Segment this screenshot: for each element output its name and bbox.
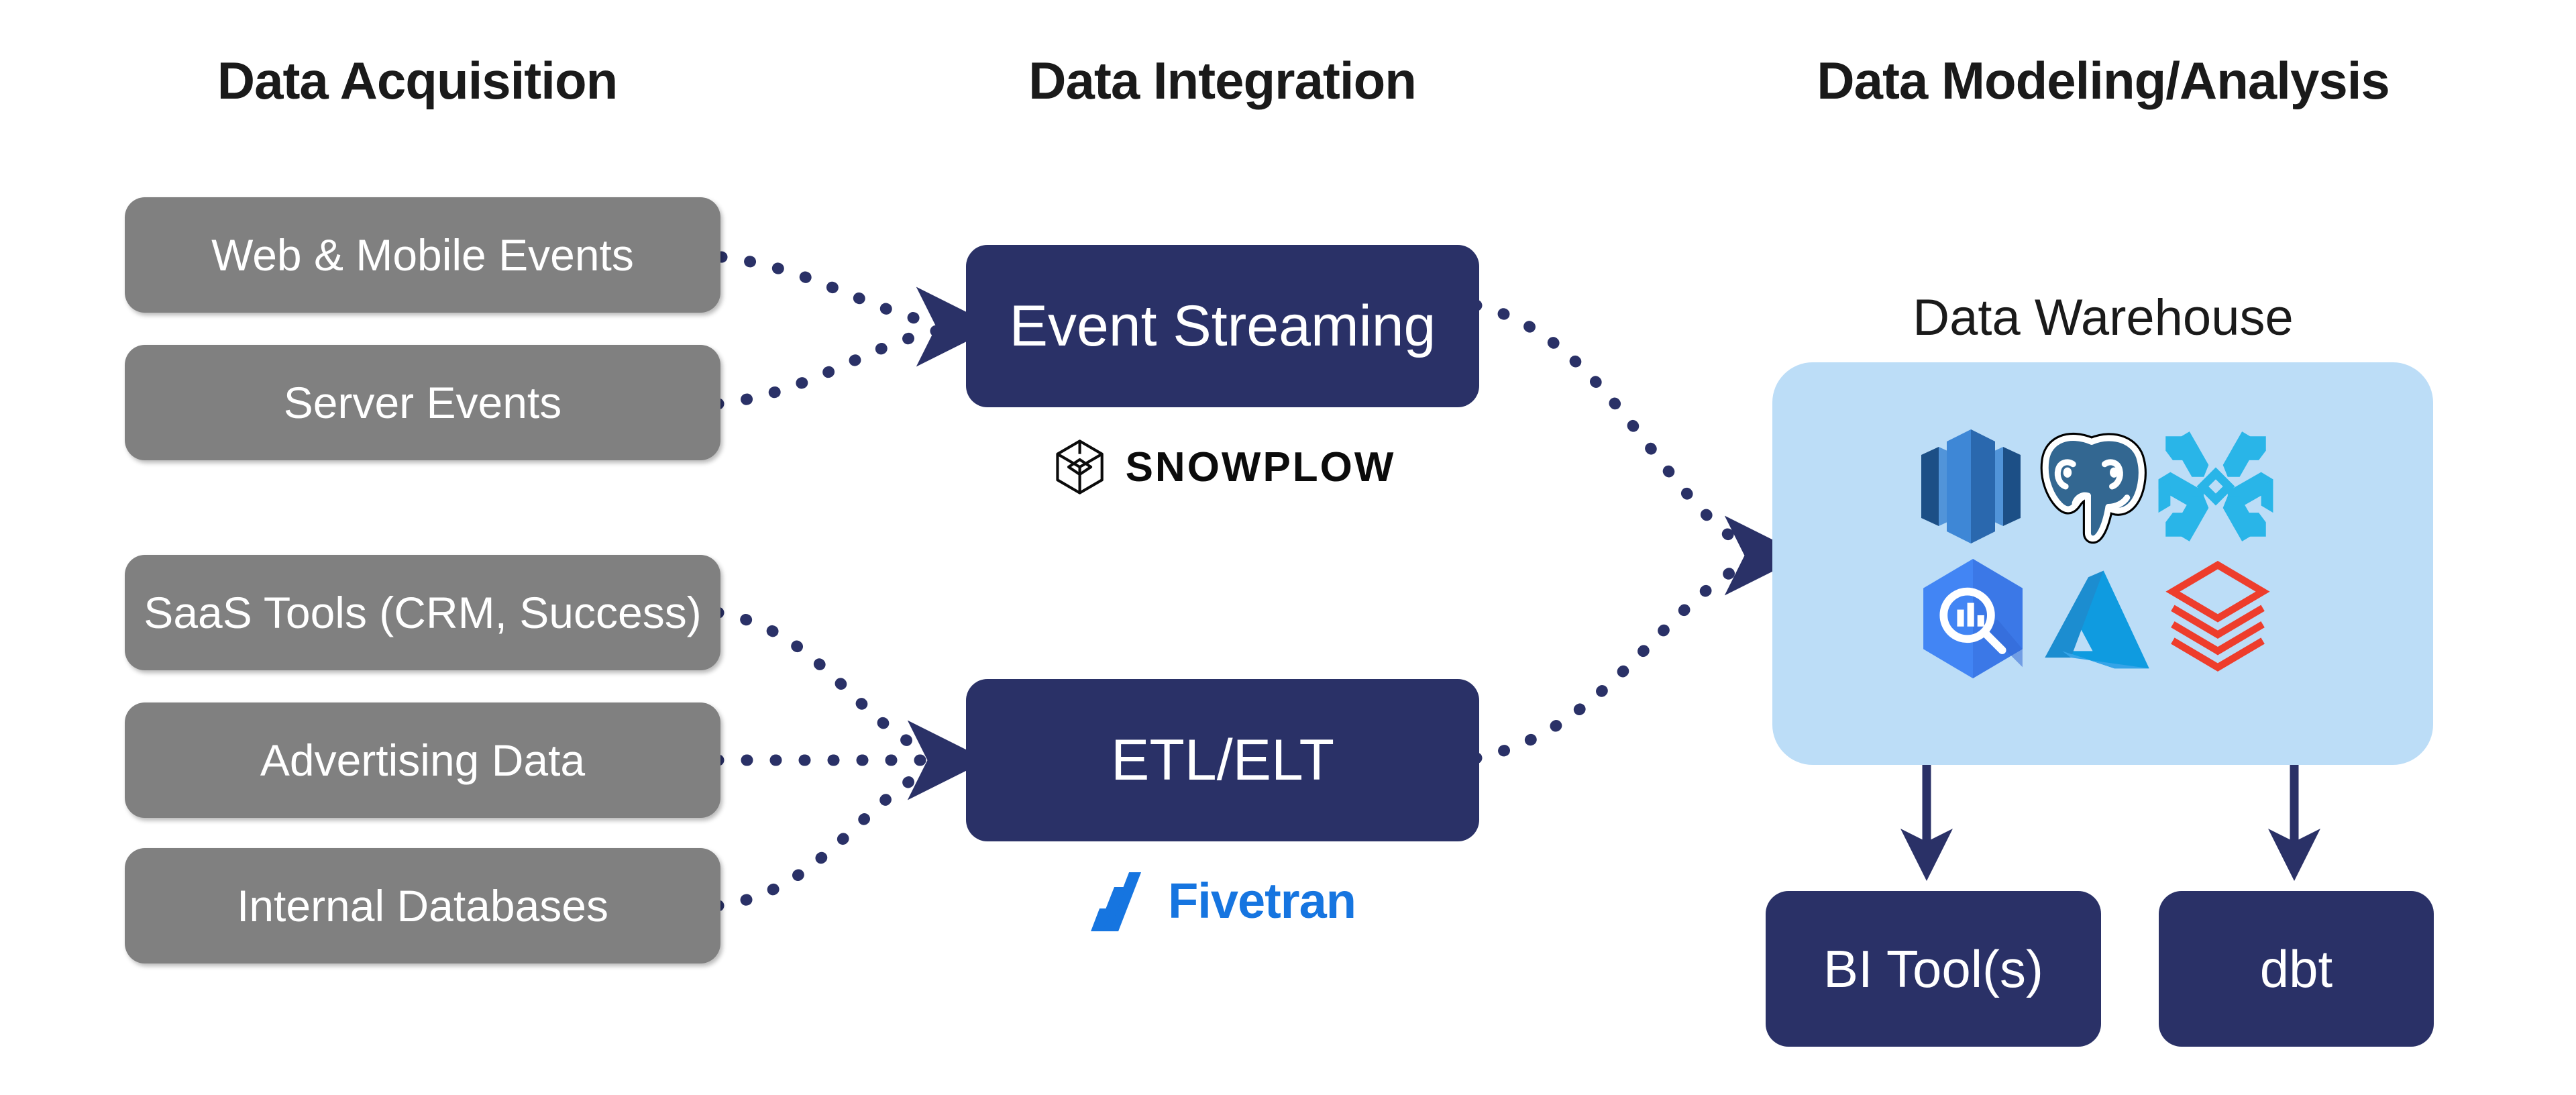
source-box-internal-databases[interactable]: Internal Databases	[125, 848, 720, 963]
snowplow-wordmark: SNOWPLOW	[1126, 444, 1396, 491]
output-label: BI Tool(s)	[1823, 939, 2043, 1000]
warehouse-icon-databricks	[2157, 556, 2278, 687]
source-box-web-mobile-events[interactable]: Web & Mobile Events	[125, 197, 720, 313]
source-box-saas-tools[interactable]: SaaS Tools (CRM, Success)	[125, 555, 720, 670]
source-box-server-events[interactable]: Server Events	[125, 345, 720, 460]
warehouse-icon-bigquery	[1909, 552, 2037, 686]
edge-saas-to-etl	[718, 613, 942, 757]
output-box-dbt[interactable]: dbt	[2159, 891, 2434, 1047]
diagram-canvas: Data Acquisition Data Integration Data M…	[0, 0, 2576, 1095]
fivetran-wordmark: Fivetran	[1168, 872, 1356, 929]
snowplow-logo: SNOWPLOW	[1049, 436, 1396, 498]
edge-web-mobile-to-event-streaming	[721, 257, 953, 326]
source-label: Web & Mobile Events	[211, 229, 634, 280]
amazon-redshift-icon	[1921, 429, 2021, 543]
warehouse-icon-redshift	[1911, 423, 2031, 550]
edge-event-streaming-to-warehouse	[1476, 305, 1758, 553]
postgresql-icon	[2035, 429, 2148, 544]
column-title-data-integration: Data Integration	[1028, 50, 1416, 111]
edge-etl-to-warehouse	[1476, 558, 1758, 758]
source-label: Internal Databases	[237, 880, 608, 931]
output-label: dbt	[2260, 939, 2332, 1000]
stage-label: Event Streaming	[1010, 293, 1436, 360]
source-box-advertising-data[interactable]: Advertising Data	[125, 702, 720, 818]
stage-label: ETL/ELT	[1111, 727, 1334, 794]
snowplow-icon	[1049, 436, 1111, 498]
warehouse-icon-postgresql	[2031, 423, 2152, 550]
fivetran-icon	[1089, 867, 1156, 934]
edge-server-to-event-streaming	[718, 328, 953, 404]
column-title-data-modeling: Data Modeling/Analysis	[1817, 50, 2390, 111]
stage-box-event-streaming[interactable]: Event Streaming	[966, 245, 1479, 407]
databricks-icon	[2165, 561, 2270, 682]
edge-internal-to-etl	[718, 765, 942, 906]
snowflake-icon	[2156, 424, 2275, 549]
output-box-bi-tools[interactable]: BI Tool(s)	[1766, 891, 2101, 1047]
fivetran-logo: Fivetran	[1089, 867, 1356, 934]
data-warehouse-label: Data Warehouse	[1913, 289, 2293, 347]
warehouse-icon-azure	[2037, 557, 2157, 684]
source-label: Server Events	[284, 377, 562, 428]
source-label: Advertising Data	[260, 735, 585, 786]
source-label: SaaS Tools (CRM, Success)	[144, 587, 701, 638]
microsoft-azure-icon	[2043, 566, 2151, 676]
stage-box-etl-elt[interactable]: ETL/ELT	[966, 679, 1479, 841]
column-title-data-acquisition: Data Acquisition	[217, 50, 618, 111]
warehouse-icon-snowflake	[2152, 419, 2279, 554]
google-bigquery-icon	[1917, 556, 2029, 681]
